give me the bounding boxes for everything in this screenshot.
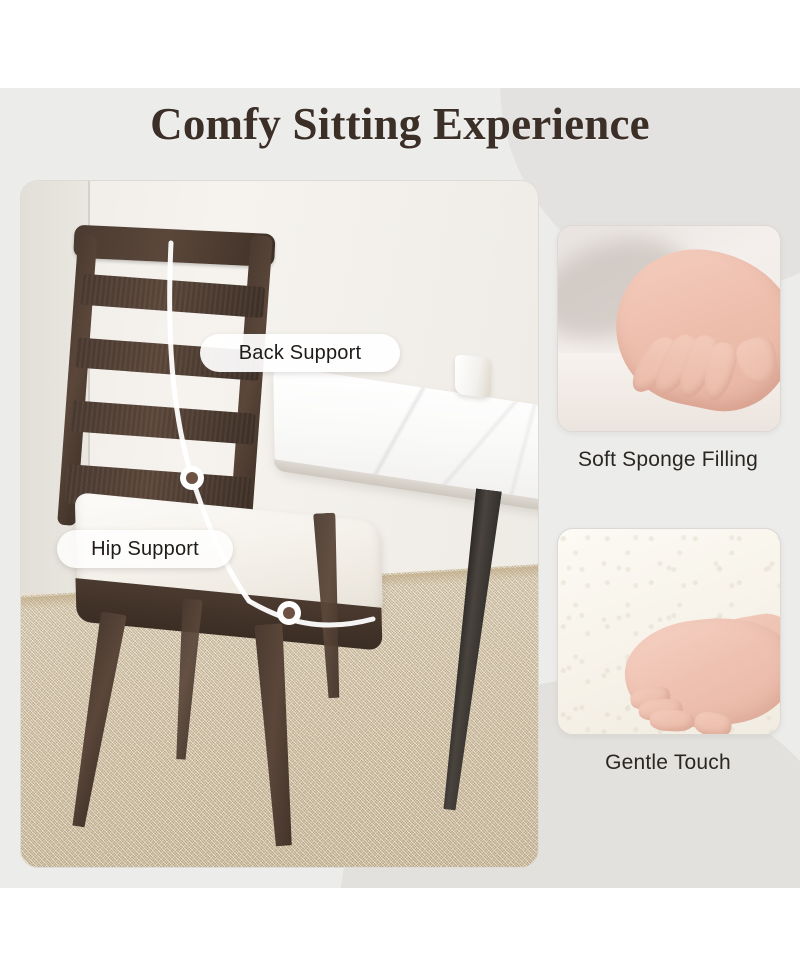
vase-object (455, 354, 491, 398)
back-support-label: Back Support (200, 334, 400, 372)
chair-top-rail (73, 225, 276, 268)
feature-caption-soft-sponge-filling: Soft Sponge Filling (557, 448, 779, 472)
chair-leg-front-right (254, 623, 298, 847)
feature-card-gentle-touch (557, 528, 781, 735)
chair-slat (70, 401, 256, 445)
feature-caption-gentle-touch: Gentle Touch (557, 751, 779, 775)
feature-column: Soft Sponge Filling Gentle Touch (557, 225, 779, 775)
hero-scene (21, 181, 538, 867)
chair-slat (79, 274, 265, 318)
chair-backrest (57, 222, 272, 538)
hero-image-panel (20, 180, 539, 868)
chair-leg-front-left (68, 611, 128, 829)
spacer (557, 472, 779, 528)
hip-support-label: Hip Support (57, 530, 233, 568)
product-feature-banner: Comfy Sitting Experience (0, 0, 800, 977)
feature-card-soft-sponge-filling (557, 225, 781, 432)
page-title: Comfy Sitting Experience (0, 98, 800, 150)
